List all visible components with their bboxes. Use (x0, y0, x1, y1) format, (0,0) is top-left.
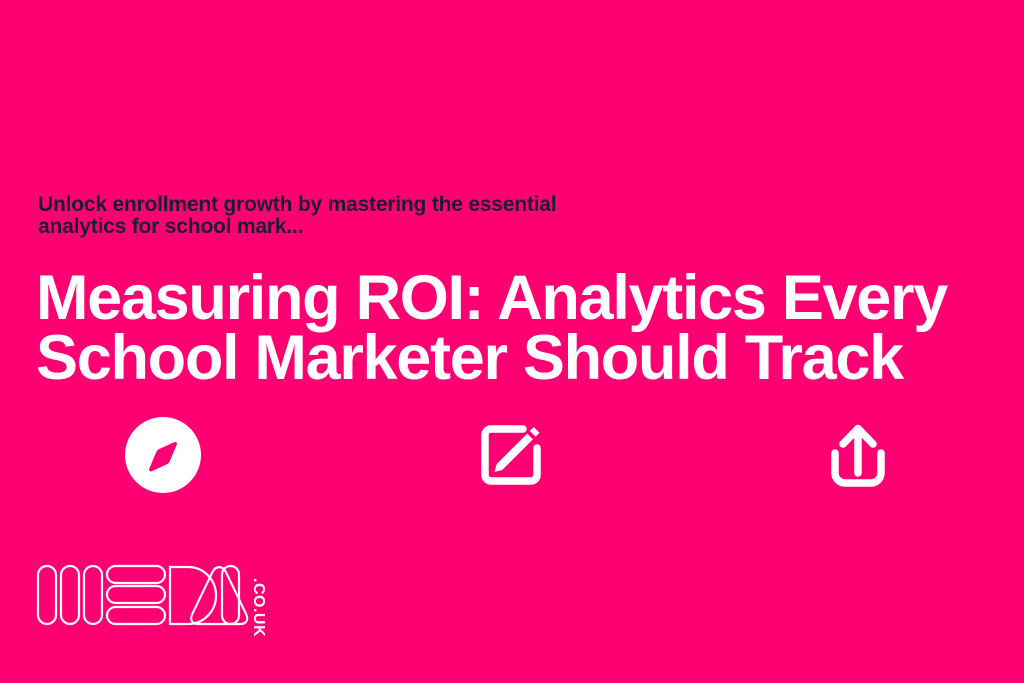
article-headline: Measuring ROI: Analytics Every School Ma… (36, 268, 956, 388)
action-icon-row: Explore Edit (0, 405, 1024, 505)
social-share-card: Unlock enrollment growth by mastering th… (0, 0, 1024, 683)
compass-icon[interactable]: Explore (113, 405, 213, 505)
edit-icon[interactable]: Edit (461, 405, 561, 505)
svg-text:.CO.UK: .CO.UK (250, 578, 267, 636)
article-excerpt: Unlock enrollment growth by mastering th… (38, 194, 678, 238)
site-logo[interactable]: MEDIA .CO.UK .CO.UK (36, 556, 268, 636)
share-icon[interactable]: Share (808, 405, 908, 505)
